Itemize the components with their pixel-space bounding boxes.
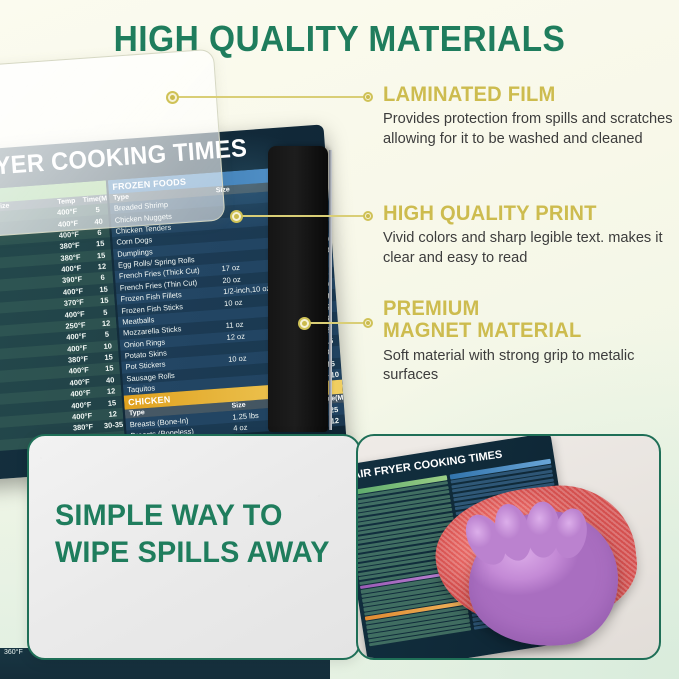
callout-dot-origin-2: [230, 210, 243, 223]
cell-time: 12: [87, 261, 116, 272]
feature-heading-premium-line2: MAGNET MATERIAL: [383, 320, 667, 342]
callout-line-2: [240, 215, 368, 217]
cell-time: 15: [90, 295, 119, 306]
laminate-film-sheet: [0, 49, 226, 244]
cell-time: 12: [98, 408, 127, 419]
feature-heading-laminated-film: LAMINATED FILM: [383, 84, 667, 106]
cell-time: 15: [97, 397, 126, 408]
infographic-canvas: HIGH QUALITY MATERIALS FRYER COOKING TIM…: [0, 0, 679, 679]
callout-dot-origin-3: [298, 317, 311, 330]
cell-time: 40: [96, 374, 125, 385]
feature-heading-premium-line1: PREMIUM: [383, 298, 667, 320]
fridge-door-edge: [329, 150, 332, 430]
cell-type: [0, 440, 13, 457]
wipe-spills-panel: SIMPLE WAY TO WIPE SPILLS AWAY: [27, 434, 361, 660]
feature-premium-magnet-material: PREMIUM MAGNET MATERIAL Soft material wi…: [383, 298, 679, 385]
cell-time: 15: [94, 352, 123, 363]
feature-body-premium-magnet-material: Soft material with strong grip to metali…: [383, 347, 679, 386]
callout-dot-end-2: [363, 211, 373, 221]
cell-time: 5: [92, 329, 121, 340]
cell-time: 15: [87, 250, 116, 261]
cell-time: 6: [88, 272, 117, 283]
wipe-line-2: WIPE SPILLS AWAY: [55, 535, 343, 572]
cell-time: 12: [92, 318, 121, 329]
cell-time: 15: [95, 363, 124, 374]
cell-time: 10: [93, 340, 122, 351]
callout-line-3: [308, 322, 368, 324]
fridge-door-panel: [268, 146, 328, 432]
rows-vegetables: nch400°F5400°F40400°F6380°F152-inch380°F…: [0, 203, 125, 457]
cell-time: 30-35: [99, 420, 127, 431]
cell-time: 12: [97, 386, 126, 397]
feature-high-quality-print: HIGH QUALITY PRINT Vivid colors and shar…: [383, 203, 679, 268]
cell-time: 15: [89, 284, 118, 295]
wipe-panel-text: SIMPLE WAY TO WIPE SPILLS AWAY: [55, 498, 343, 571]
feature-heading-high-quality-print: HIGH QUALITY PRINT: [383, 203, 667, 225]
callout-dot-origin-1: [166, 91, 179, 104]
wipe-line-1: SIMPLE WAY TO: [55, 498, 343, 535]
feature-body-laminated-film: Provides protection from spills and scra…: [383, 110, 679, 149]
callout-dot-end-1: [363, 92, 373, 102]
callout-dot-end-3: [363, 318, 373, 328]
cell-time: 5: [91, 306, 120, 317]
feature-body-high-quality-print: Vivid colors and sharp legible text. mak…: [383, 229, 679, 268]
page-title: HIGH QUALITY MATERIALS: [24, 18, 655, 60]
cell-time: 15: [86, 238, 115, 249]
feature-laminated-film: LAMINATED FILM Provides protection from …: [383, 84, 679, 149]
callout-line-1: [172, 96, 368, 98]
wipe-demo-photo: AIR FRYER COOKING TIMES: [356, 434, 661, 660]
